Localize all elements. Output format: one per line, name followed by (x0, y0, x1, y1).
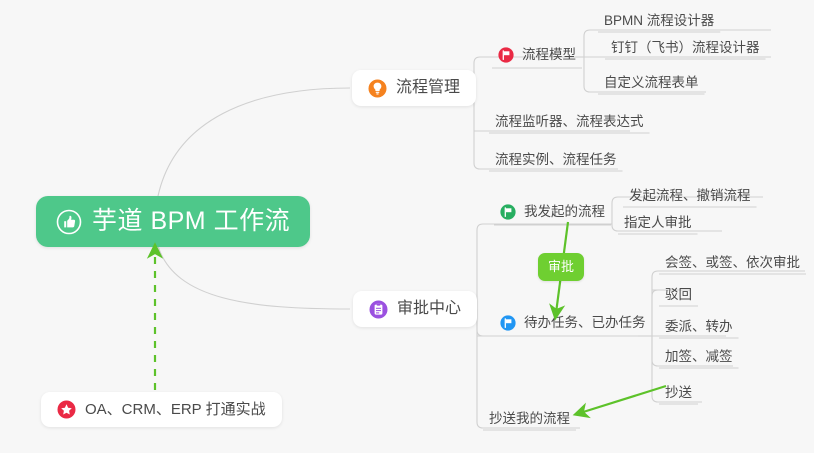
node-my-initiated-process[interactable]: 我发起的流程 (494, 203, 611, 225)
root-label: 芋道 BPM 工作流 (92, 196, 290, 247)
mindmap-canvas: 芋道 BPM 工作流 流程管理 流程模型 BPMN 流程设计器 钉钉（飞书）流程 (0, 0, 814, 453)
node-carbon-copy[interactable]: 抄送 (659, 384, 698, 404)
node-label: 指定人审批 (624, 215, 692, 230)
flag-icon (500, 204, 516, 220)
node-process-model[interactable]: 流程模型 (492, 46, 582, 68)
badge-label: 审批 (548, 259, 574, 274)
arrow-cc-to-cc-process (580, 386, 666, 413)
node-reject[interactable]: 驳回 (659, 286, 698, 306)
node-label: 发起流程、撤销流程 (629, 188, 751, 203)
branch-approval-center[interactable]: 审批中心 (353, 291, 477, 327)
node-start-cancel-process[interactable]: 发起流程、撤销流程 (623, 187, 757, 207)
lightbulb-pin-icon (368, 79, 387, 98)
flag-icon (500, 315, 516, 331)
node-label: 抄送 (665, 385, 692, 400)
approval-badge[interactable]: 审批 (538, 253, 584, 281)
node-custom-process-form[interactable]: 自定义流程表单 (598, 74, 705, 94)
thumbs-up-icon (56, 209, 82, 235)
node-countersign-orsign-sequential[interactable]: 会签、或签、依次审批 (659, 254, 806, 274)
branch-label: 审批中心 (397, 291, 461, 327)
node-bpmn-designer[interactable]: BPMN 流程设计器 (598, 12, 720, 32)
node-delegate-transfer[interactable]: 委派、转办 (659, 318, 739, 338)
node-designated-approver[interactable]: 指定人审批 (618, 214, 698, 234)
node-add-remove-sign[interactable]: 加签、减签 (659, 348, 739, 368)
node-label: 委派、转办 (665, 319, 733, 334)
node-label: 我发起的流程 (524, 203, 605, 221)
clipboard-icon (369, 300, 388, 319)
node-label: 待办任务、已办任务 (524, 314, 646, 332)
node-label: 流程实例、流程任务 (495, 152, 617, 167)
node-cc-to-me-process[interactable]: 抄送我的流程 (483, 410, 576, 430)
node-process-listener-expression[interactable]: 流程监听器、流程表达式 (489, 113, 650, 133)
root-node[interactable]: 芋道 BPM 工作流 (36, 196, 310, 247)
node-label: BPMN 流程设计器 (604, 13, 714, 28)
node-label: 抄送我的流程 (489, 411, 570, 426)
branch-process-management[interactable]: 流程管理 (352, 70, 476, 106)
node-dingtalk-feishu-designer[interactable]: 钉钉（飞书）流程设计器 (605, 39, 766, 59)
node-label: 驳回 (665, 287, 692, 302)
node-label: 加签、减签 (665, 349, 733, 364)
node-label: 钉钉（飞书）流程设计器 (611, 40, 760, 55)
node-process-instance-task[interactable]: 流程实例、流程任务 (489, 151, 623, 171)
footer-node-label: OA、CRM、ERP 打通实战 (85, 392, 266, 427)
node-label: 流程模型 (522, 46, 576, 64)
footer-node-integration-practice[interactable]: OA、CRM、ERP 打通实战 (41, 392, 282, 427)
star-icon (57, 400, 76, 419)
node-label: 自定义流程表单 (604, 75, 699, 90)
edge-root-to-process-management (158, 88, 350, 196)
node-todo-done-tasks[interactable]: 待办任务、已办任务 (494, 314, 652, 336)
node-label: 会签、或签、依次审批 (665, 255, 800, 270)
flag-icon (498, 47, 514, 63)
edge-root-to-approval-center (158, 246, 350, 309)
branch-label: 流程管理 (396, 70, 460, 106)
node-label: 流程监听器、流程表达式 (495, 114, 644, 129)
